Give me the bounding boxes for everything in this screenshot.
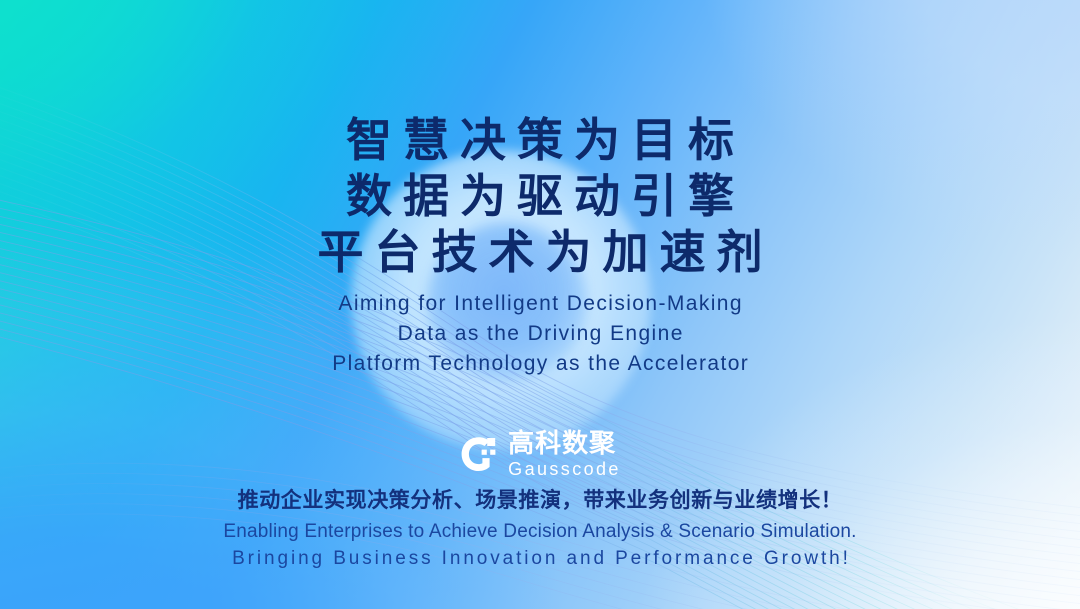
footer-tagline-en-line-1: Enabling Enterprises to Achieve Decision… bbox=[0, 518, 1080, 545]
headline-line-2: 数据为驱动引擎 bbox=[0, 168, 1080, 224]
brand-logo: 高科数聚 Gausscode bbox=[0, 430, 1080, 478]
subheadline-line-1: Aiming for Intelligent Decision-Making bbox=[0, 289, 1080, 319]
footer-tagline-en: Enabling Enterprises to Achieve Decision… bbox=[0, 518, 1080, 572]
headline-line-3: 平台技术为加速剂 bbox=[0, 224, 1080, 280]
brand-name-en: Gausscode bbox=[508, 460, 621, 478]
headline-line-1: 智慧决策为目标 bbox=[0, 112, 1080, 168]
subheadline-line-3: Platform Technology as the Accelerator bbox=[0, 349, 1080, 379]
subheadline: Aiming for Intelligent Decision-Making D… bbox=[0, 289, 1080, 379]
gausscode-logo-mark-icon bbox=[459, 434, 499, 474]
headline: 智慧决策为目标 数据为驱动引擎 平台技术为加速剂 bbox=[0, 112, 1080, 280]
poster-canvas: 智慧决策为目标 数据为驱动引擎 平台技术为加速剂 Aiming for Inte… bbox=[0, 0, 1080, 609]
footer-tagline-en-line-2: Bringing Business Innovation and Perform… bbox=[0, 545, 1080, 572]
footer-tagline-cn: 推动企业实现决策分析、场景推演，带来业务创新与业绩增长！ bbox=[0, 484, 1080, 514]
subheadline-line-2: Data as the Driving Engine bbox=[0, 319, 1080, 349]
brand-name-cn: 高科数聚 bbox=[508, 430, 621, 456]
brand-logo-text: 高科数聚 Gausscode bbox=[508, 430, 621, 478]
